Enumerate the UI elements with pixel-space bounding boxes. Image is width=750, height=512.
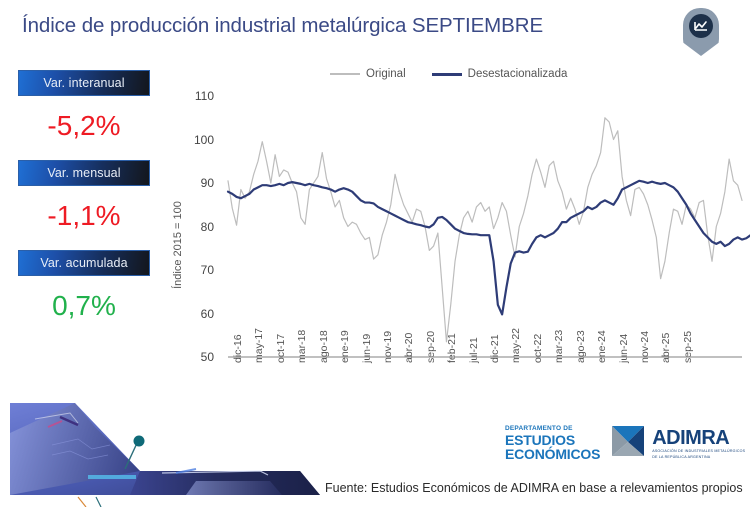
page-title: Índice de producción industrial metalúrg… [22, 14, 543, 38]
dept-line-3: ECONÓMICOS [505, 447, 600, 461]
source-note: Fuente: Estudios Económicos de ADIMRA en… [325, 481, 743, 495]
stat-value: -5,2% [0, 110, 168, 142]
decorative-graphic [0, 393, 330, 512]
adimra-wordmark: ADIMRA ASOCIACIÓN DE INDUSTRIALES METALÚ… [652, 428, 745, 460]
chart: Original Desestacionalizada Índice 2015 … [180, 60, 750, 430]
adimra-sub-1: ASOCIACIÓN DE INDUSTRIALES METALÚRGICOS [652, 449, 745, 454]
dept-line-2: ESTUDIOS [505, 433, 600, 447]
series-line-original [228, 118, 742, 342]
stat-label: Var. interanual [43, 76, 124, 90]
stat-value: 0,7% [0, 290, 168, 322]
stats-panel: Var. interanual -5,2% Var. mensual -1,1%… [0, 70, 180, 340]
stat-block: Var. interanual -5,2% [0, 70, 180, 142]
stat-label: Var. acumulada [40, 256, 127, 270]
stat-block: Var. mensual -1,1% [0, 160, 180, 232]
stat-label-badge: Var. acumulada [18, 250, 150, 276]
series-line-desestacionalizada [228, 181, 750, 315]
stat-label-badge: Var. mensual [18, 160, 150, 186]
stat-value: -1,1% [0, 200, 168, 232]
header-badge [683, 8, 719, 56]
stat-label-badge: Var. interanual [18, 70, 150, 96]
stat-block: Var. acumulada 0,7% [0, 250, 180, 322]
footer-logos: DEPARTAMENTO DE ESTUDIOS ECONÓMICOS ADIM… [505, 424, 745, 463]
header: Índice de producción industrial metalúrg… [0, 0, 750, 60]
adimra-logo: ADIMRA ASOCIACIÓN DE INDUSTRIALES METALÚ… [610, 424, 745, 463]
infographic-root: Índice de producción industrial metalúrg… [0, 0, 750, 507]
dept-estudios-economicos-logo: DEPARTAMENTO DE ESTUDIOS ECONÓMICOS [505, 426, 600, 461]
adimra-sub-2: DE LA REPÚBLICA ARGENTINA [652, 455, 745, 460]
adimra-name: ADIMRA [652, 428, 745, 448]
adimra-mark-icon [610, 424, 646, 463]
plot-area [180, 60, 750, 430]
line-chart-icon [689, 14, 713, 38]
stat-label: Var. mensual [47, 166, 120, 180]
